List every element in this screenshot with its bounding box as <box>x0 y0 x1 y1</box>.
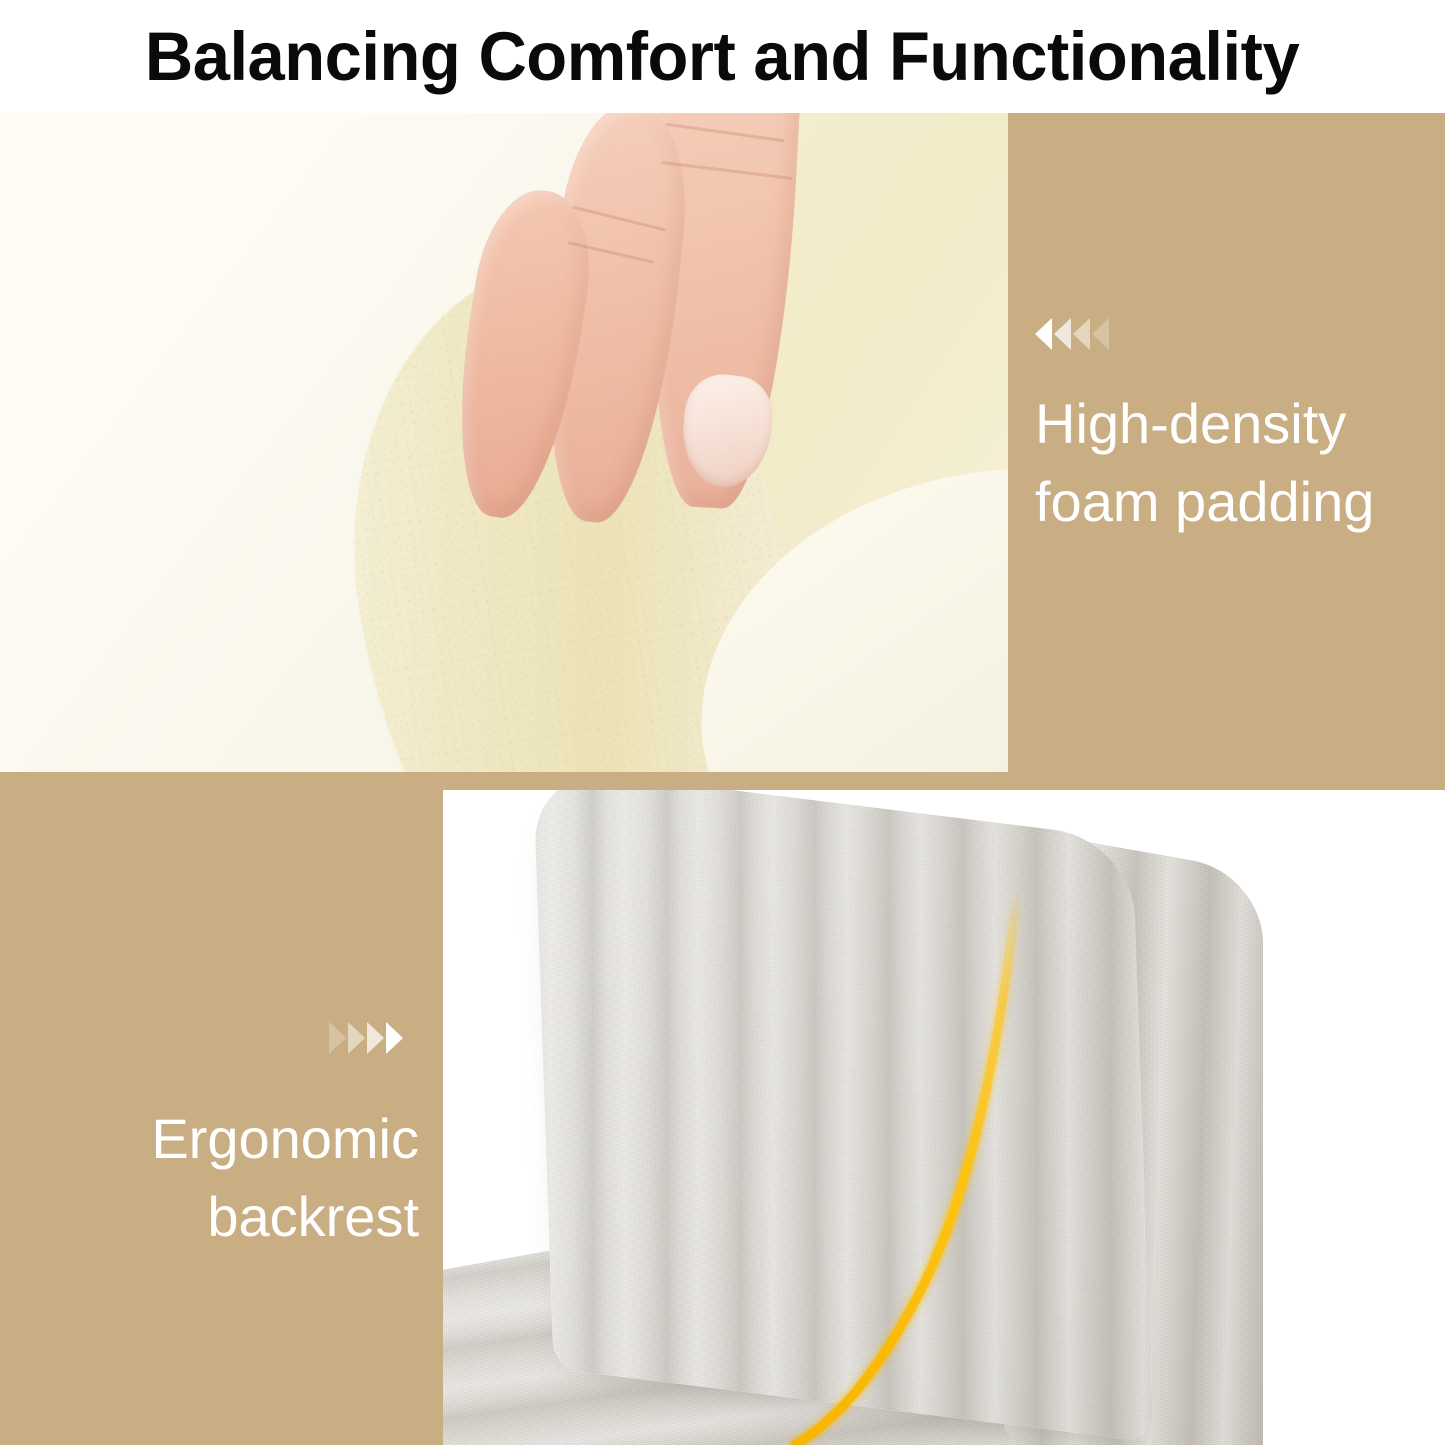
chevron-right-icon <box>329 1022 346 1054</box>
hand-pressing-foam <box>455 113 875 563</box>
chair-backrest-panel <box>533 790 1154 1442</box>
chevron-left-icon <box>1035 318 1052 350</box>
chevron-group-left <box>1035 318 1111 350</box>
caption-foam-line2: foam padding <box>1035 463 1425 541</box>
caption-backrest-line1: Ergonomic <box>39 1100 419 1178</box>
caption-panel-backrest: Ergonomic backrest <box>0 772 443 1445</box>
chevron-right-icon <box>348 1022 365 1054</box>
page-title-bar: Balancing Comfort and Functionality <box>0 0 1445 113</box>
tan-divider-strip <box>443 772 1445 790</box>
chevron-right-icon <box>367 1022 384 1054</box>
page-title: Balancing Comfort and Functionality <box>145 22 1299 91</box>
caption-backrest-line2: backrest <box>39 1178 419 1256</box>
caption-foam-line1: High-density <box>1035 385 1425 463</box>
foam-padding-photo <box>0 113 1008 772</box>
chevron-left-icon <box>1092 318 1109 350</box>
backrest-fabric-weave <box>533 790 1154 1442</box>
product-feature-page: Balancing Comfort and Functionality <box>0 0 1445 1445</box>
caption-foam: High-density foam padding <box>1035 385 1425 541</box>
chevron-left-icon <box>1073 318 1090 350</box>
bottom-feature-row: Ergonomic backrest <box>0 772 1445 1445</box>
chair-backrest-photo <box>443 790 1445 1445</box>
top-feature-row: High-density foam padding <box>0 113 1445 772</box>
chevron-left-icon <box>1054 318 1071 350</box>
chevron-group-right <box>329 1022 405 1054</box>
chevron-right-icon <box>386 1022 403 1054</box>
caption-backrest: Ergonomic backrest <box>39 1100 419 1256</box>
caption-panel-foam: High-density foam padding <box>1008 113 1445 772</box>
